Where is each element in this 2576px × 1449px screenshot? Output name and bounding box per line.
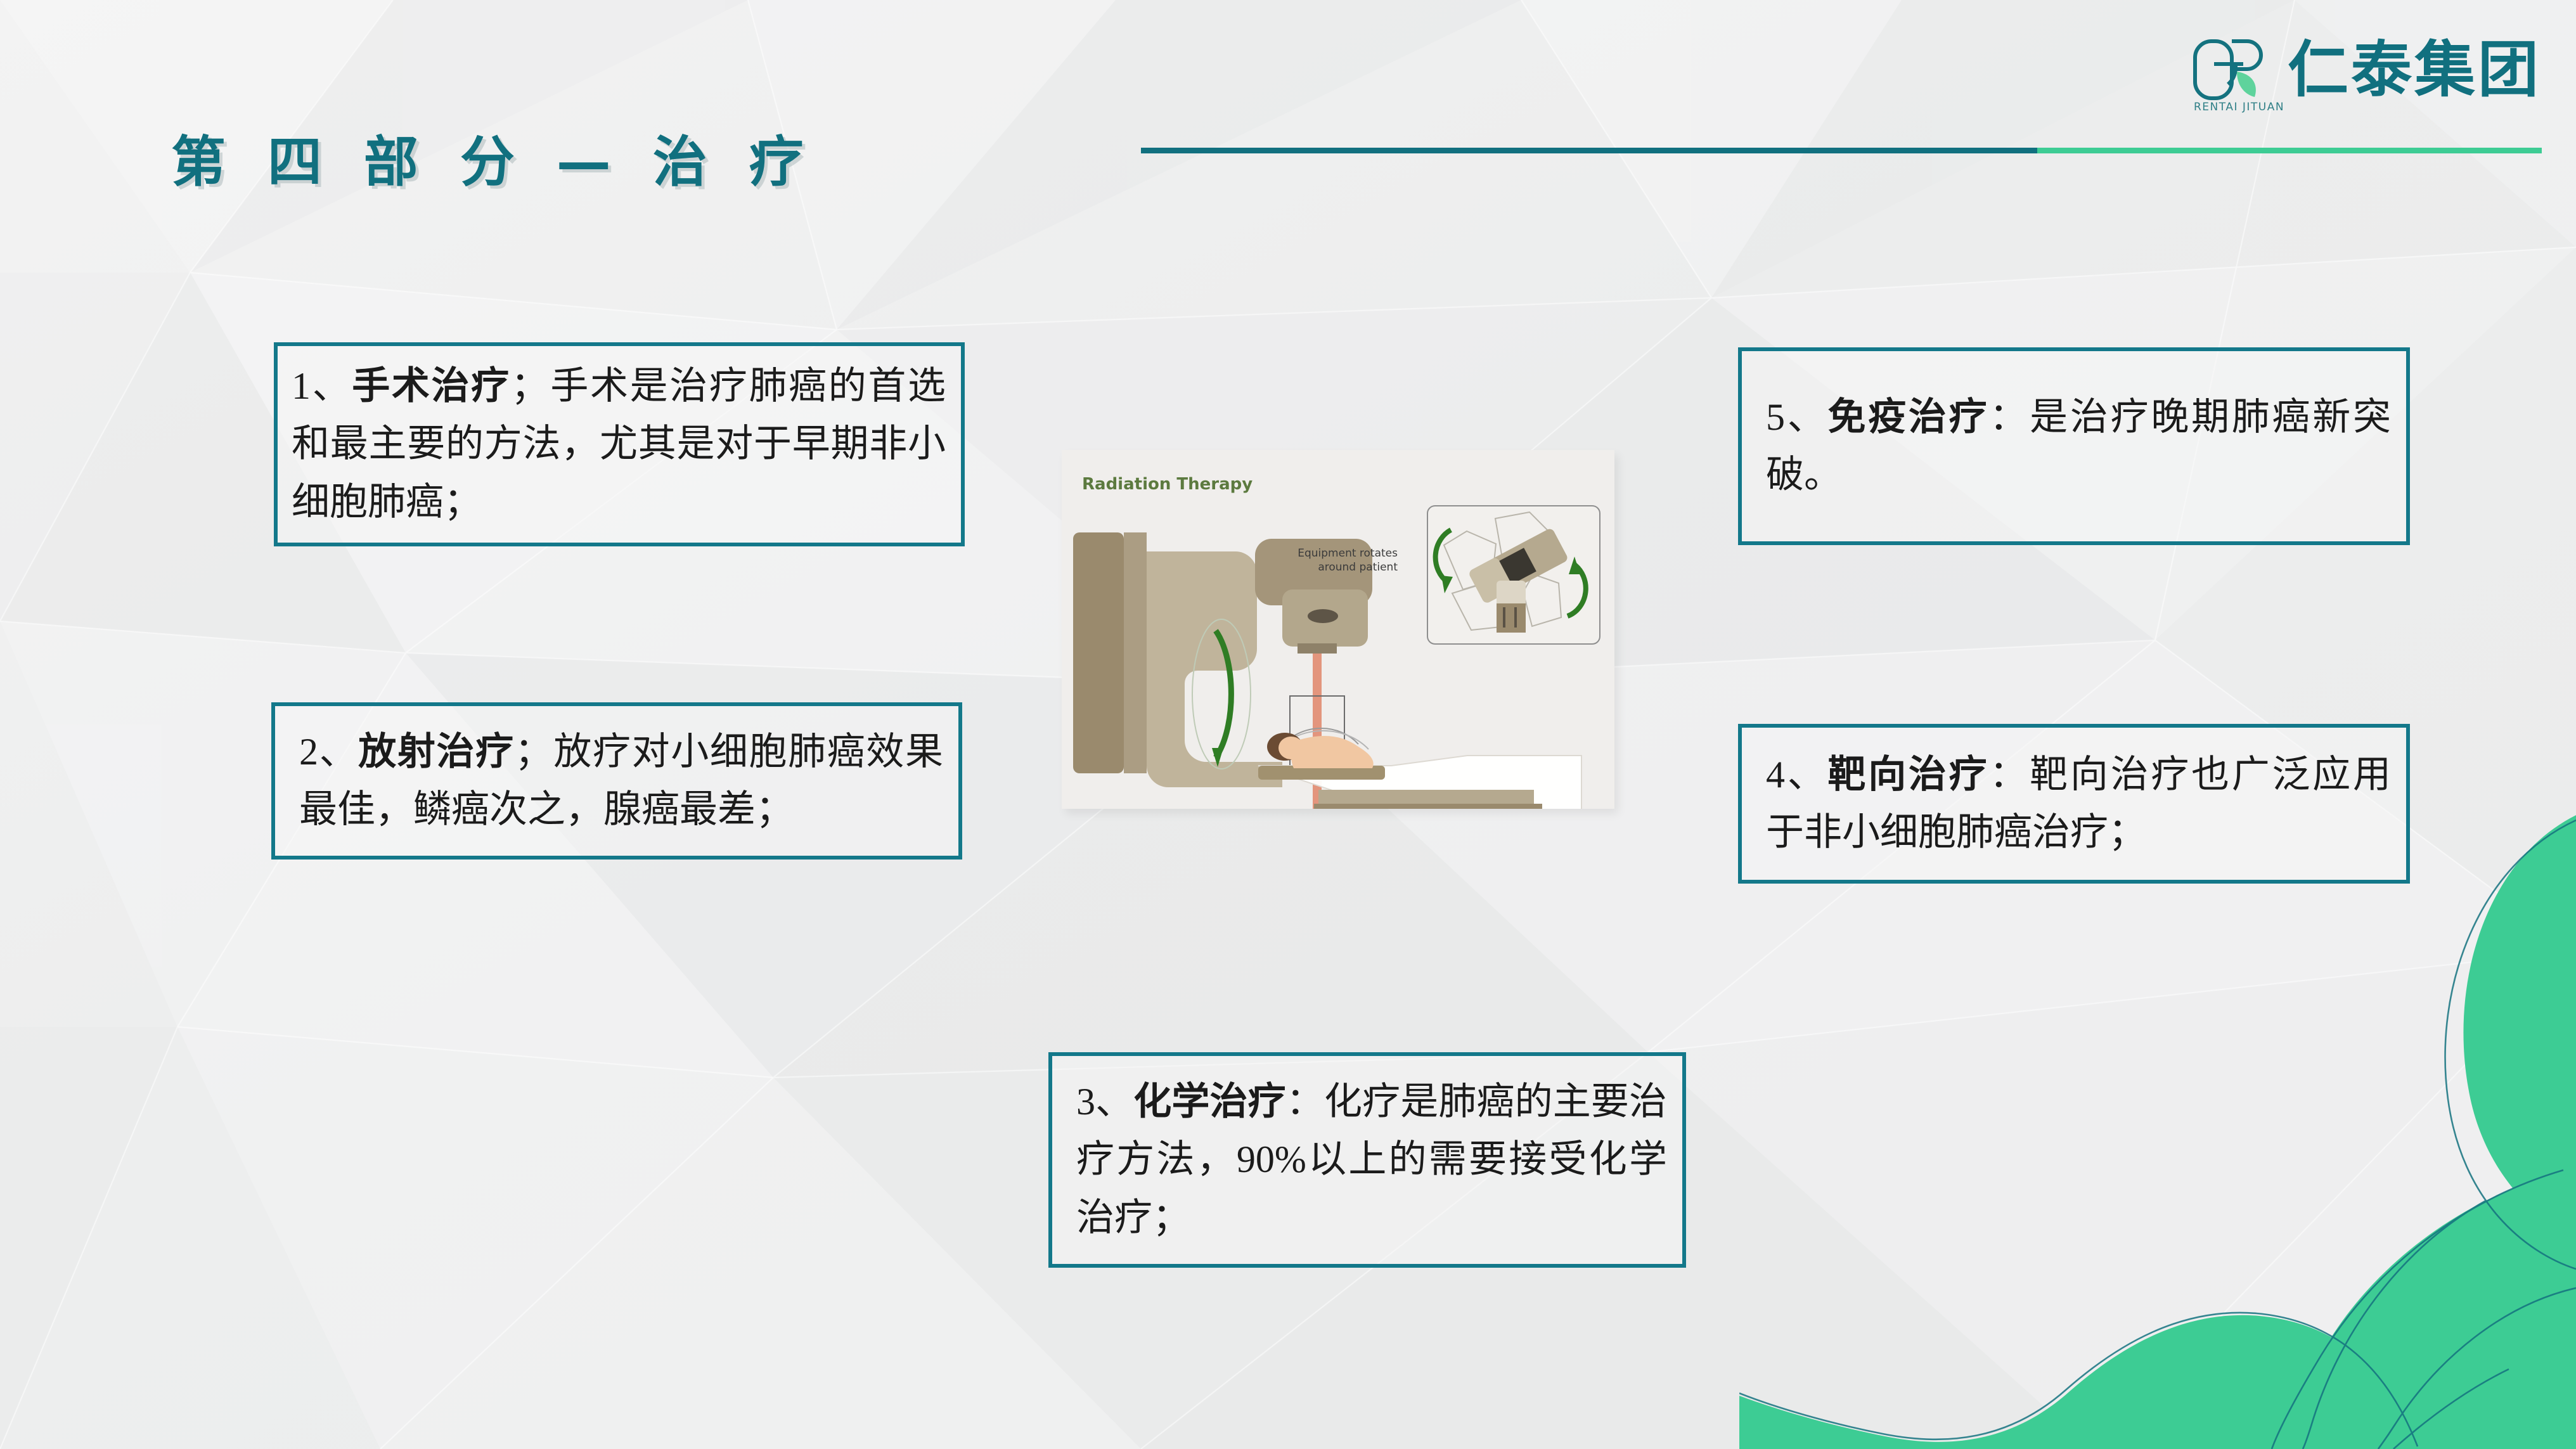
treatment-term: 免疫治疗 [1827,396,1989,438]
treatment-box-text: 4、靶向治疗：靶向治疗也广泛应用于非小细胞肺癌治疗； [1742,746,2406,861]
header-divider-rule [1141,148,2542,153]
treatment-number: 3、 [1076,1081,1133,1123]
treatment-number: 2、 [299,731,358,773]
treatment-separator: ： [1989,754,2030,795]
treatment-number: 5、 [1766,396,1827,438]
treatment-term: 手术治疗 [352,365,511,407]
treatment-box-radiation[interactable]: 2、放射治疗；放疗对小细胞肺癌效果最佳，鳞癌次之，腺癌最差； [271,702,962,860]
treatment-term: 化学治疗 [1133,1081,1286,1123]
treatment-separator: ； [511,365,549,407]
divider-segment-green [2037,148,2542,153]
treatment-box-text: 1、手术治疗；手术是治疗肺癌的首选和最主要的方法，尤其是对于早期非小细胞肺癌； [278,357,961,531]
figure-annotation-line2: around patient [1318,561,1398,574]
treatment-box-chemotherapy[interactable]: 3、化学治疗：化疗是肺癌的主要治疗方法，90%以上的需要接受化学治疗； [1048,1052,1686,1268]
logo-wordmark: 仁泰集团 [2288,39,2541,106]
figure-annotation-line1: Equipment rotates [1298,547,1398,560]
treatment-number: 1、 [292,365,352,407]
treatment-box-surgery[interactable]: 1、手术治疗；手术是治疗肺癌的首选和最主要的方法，尤其是对于早期非小细胞肺癌； [274,342,965,546]
treatment-term: 靶向治疗 [1827,754,1989,795]
treatment-box-text: 2、放射治疗；放疗对小细胞肺癌效果最佳，鳞癌次之，腺癌最差； [275,723,958,839]
brand-logo: RENTAI JITUAN 仁泰集团 [2190,35,2541,111]
treatment-box-immunotherapy[interactable]: 5、免疫治疗：是治疗晚期肺癌新突破。 [1738,347,2410,545]
treatment-separator: ： [1286,1081,1324,1123]
treatment-box-text: 5、免疫治疗：是治疗晚期肺癌新突破。 [1742,389,2406,504]
logo-subtext: RENTAI JITUAN [2194,101,2284,113]
treatment-separator: ： [1989,396,2030,438]
treatment-number: 4、 [1766,754,1827,795]
figure-title: Radiation Therapy [1082,475,1253,494]
divider-segment-teal [1141,148,2037,153]
treatment-box-targeted[interactable]: 4、靶向治疗：靶向治疗也广泛应用于非小细胞肺癌治疗； [1738,724,2410,884]
treatment-box-text: 3、化学治疗：化疗是肺癌的主要治疗方法，90%以上的需要接受化学治疗； [1052,1073,1682,1247]
rentai-monogram-icon: RENTAI JITUAN [2190,35,2271,111]
treatment-term: 放射治疗 [358,731,515,773]
treatment-separator: ； [515,731,553,773]
page-title: 第 四 部 分 — 治 疗 [171,117,815,196]
radiation-therapy-illustration: Radiation Therapy Equipment rotates arou… [1062,450,1614,809]
